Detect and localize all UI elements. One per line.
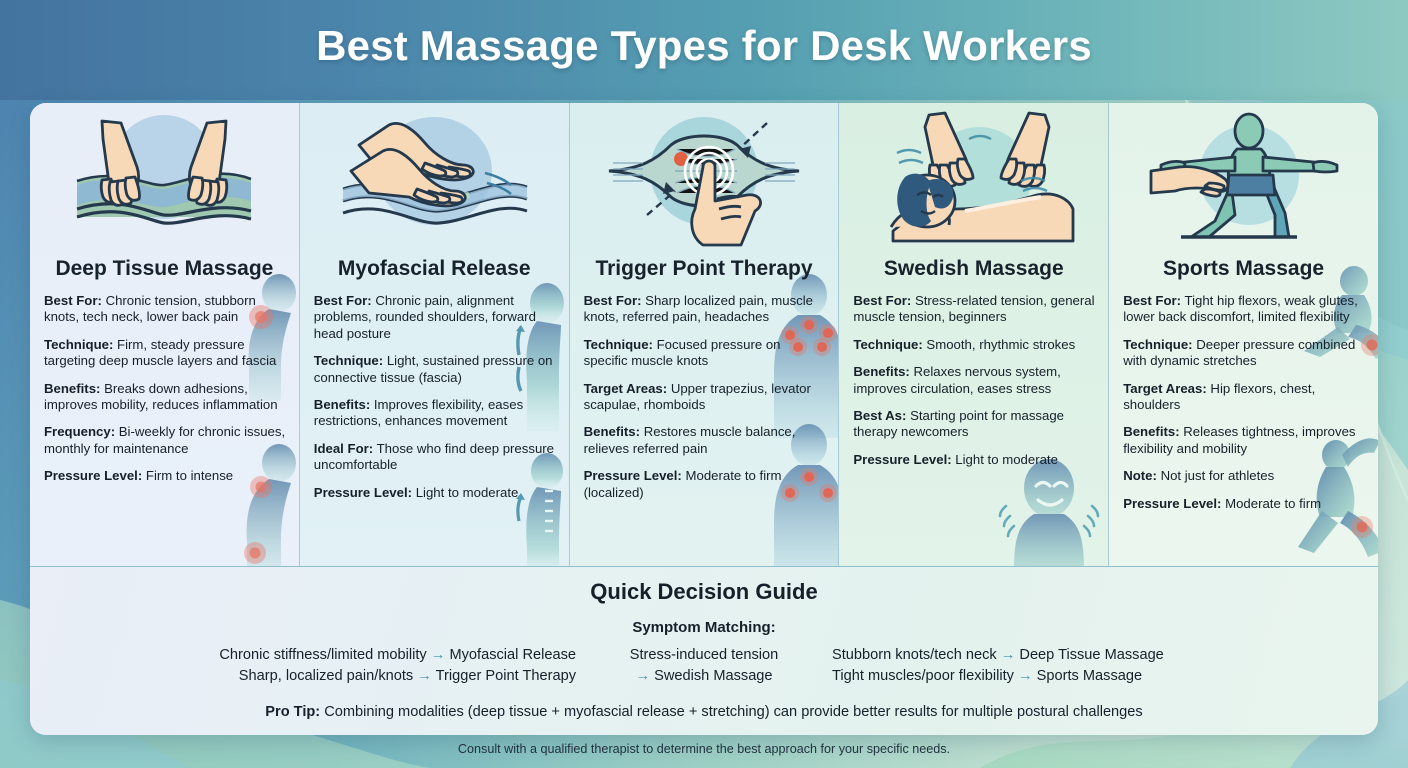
sports-icon-wrap — [1109, 103, 1378, 255]
match-column-right: Stubborn knots/tech neck → Deep Tissue M… — [832, 645, 1232, 687]
fact-label: Pressure Level: — [584, 468, 682, 483]
hands-pressing-tissue-icon — [59, 109, 269, 249]
fact-text: Light to moderate — [955, 452, 1058, 467]
fact-label: Pressure Level: — [314, 485, 412, 500]
match-column-left: Chronic stiffness/limited mobility → Myo… — [176, 645, 576, 687]
column-title: Swedish Massage — [839, 257, 1108, 281]
match-result: Swedish Massage — [654, 668, 772, 684]
column-body: Best For: Stress-related tension, genera… — [839, 293, 1108, 468]
guide-title: Quick Decision Guide — [30, 579, 1378, 605]
symptom-matching-title: Symptom Matching: — [30, 619, 1378, 636]
fact-label: Pressure Level: — [853, 452, 951, 467]
fact-label: Benefits: — [584, 424, 640, 439]
fact-item: Target Areas: Hip flexors, chest, should… — [1123, 381, 1366, 414]
deep-tissue-icon-wrap — [30, 103, 299, 255]
fact-label: Best For: — [44, 293, 102, 308]
fact-label: Ideal For: — [314, 441, 373, 456]
column-sports-massage[interactable]: Sports Massage — [1109, 103, 1378, 566]
fact-label: Best As: — [853, 408, 906, 423]
column-title: Deep Tissue Massage — [30, 257, 299, 281]
main-card: Deep Tissue Massage — [30, 103, 1378, 735]
column-body: Best For: Chronic tension, stubborn knot… — [30, 293, 299, 485]
fact-label: Best For: — [853, 293, 911, 308]
arrow-icon: → — [1018, 668, 1033, 684]
fact-label: Benefits: — [314, 397, 370, 412]
fact-text: Smooth, rhythmic strokes — [926, 337, 1075, 352]
footnote-disclaimer: Consult with a qualified therapist to de… — [0, 742, 1408, 756]
match-row: Stubborn knots/tech neck → Deep Tissue M… — [832, 645, 1232, 666]
fact-item: Benefits: Breaks down adhesions, improve… — [44, 381, 287, 414]
fact-label: Note: — [1123, 468, 1157, 483]
match-column-middle: Stress-induced tension → Swedish Massage — [604, 645, 804, 687]
fact-label: Technique: — [314, 353, 383, 368]
fact-label: Benefits: — [1123, 424, 1179, 439]
fact-item: Target Areas: Upper trapezius, levator s… — [584, 381, 827, 414]
fact-text: Light to moderate — [416, 485, 519, 500]
match-symptom: Stress-induced tension — [630, 647, 778, 663]
fact-item: Benefits: Improves flexibility, eases re… — [314, 397, 557, 430]
pro-tip: Pro Tip: Combining modalities (deep tiss… — [30, 704, 1378, 720]
fact-label: Technique: — [584, 337, 653, 352]
trigger-point-icon-wrap — [570, 103, 839, 255]
infographic-root: Best Massage Types for Desk Workers — [0, 0, 1408, 768]
fact-item: Best For: Chronic pain, alignment proble… — [314, 293, 557, 342]
quick-decision-guide: Quick Decision Guide Symptom Matching: C… — [30, 566, 1378, 735]
match-symptom: Tight muscles/poor flexibility — [832, 668, 1014, 684]
column-title: Trigger Point Therapy — [570, 257, 839, 281]
fact-text: Moderate to firm — [1225, 496, 1321, 511]
massage-type-columns: Deep Tissue Massage — [30, 103, 1378, 566]
arrow-icon: → — [1001, 647, 1016, 663]
fact-label: Best For: — [1123, 293, 1181, 308]
fact-item: Best For: Tight hip flexors, weak glutes… — [1123, 293, 1366, 326]
fact-label: Technique: — [44, 337, 113, 352]
fact-label: Frequency: — [44, 424, 115, 439]
column-body: Best For: Chronic pain, alignment proble… — [300, 293, 569, 501]
symptom-match-grid: Chronic stiffness/limited mobility → Myo… — [30, 645, 1378, 687]
match-row: Sharp, localized pain/knots → Trigger Po… — [176, 666, 576, 687]
arrow-icon: → — [635, 668, 650, 684]
assisted-stretch-warrior-pose-icon — [1139, 109, 1349, 249]
fact-item: Note: Not just for athletes — [1123, 468, 1366, 484]
fact-item: Pressure Level: Light to moderate — [853, 452, 1096, 468]
arrow-icon: → — [431, 647, 446, 663]
column-title: Sports Massage — [1109, 257, 1378, 281]
fact-item: Technique: Light, sustained pressure on … — [314, 353, 557, 386]
fact-item: Pressure Level: Moderate to firm (locali… — [584, 468, 827, 501]
fact-item: Best As: Starting point for massage ther… — [853, 408, 1096, 441]
column-myofascial-release[interactable]: Myofascial Release — [300, 103, 570, 566]
fact-label: Benefits: — [853, 364, 909, 379]
fact-item: Pressure Level: Moderate to firm — [1123, 496, 1366, 512]
fact-label: Target Areas: — [584, 381, 668, 396]
fact-label: Technique: — [853, 337, 922, 352]
fact-item: Technique: Deeper pressure combined with… — [1123, 337, 1366, 370]
match-result: Sports Massage — [1037, 668, 1142, 684]
fact-item: Benefits: Restores muscle balance, relie… — [584, 424, 827, 457]
column-body: Best For: Sharp localized pain, muscle k… — [570, 293, 839, 501]
match-symptom: Stubborn knots/tech neck — [832, 647, 997, 663]
fact-item: Technique: Focused pressure on specific … — [584, 337, 827, 370]
fact-item: Pressure Level: Light to moderate — [314, 485, 557, 501]
fact-item: Best For: Sharp localized pain, muscle k… — [584, 293, 827, 326]
fact-text: Firm to intense — [146, 468, 233, 483]
fact-label: Best For: — [314, 293, 372, 308]
column-swedish-massage[interactable]: Swedish Massage Best For: Stress-related… — [839, 103, 1109, 566]
match-result: Deep Tissue Massage — [1019, 647, 1163, 663]
arrow-icon: → — [417, 668, 432, 684]
finger-pressing-muscle-knot-icon — [599, 109, 809, 249]
relaxed-face-silhouette-icon — [996, 452, 1102, 566]
column-deep-tissue[interactable]: Deep Tissue Massage — [30, 103, 300, 566]
match-result: Trigger Point Therapy — [436, 668, 576, 684]
match-symptom: Sharp, localized pain/knots — [239, 668, 413, 684]
fact-item: Best For: Stress-related tension, genera… — [853, 293, 1096, 326]
match-row: Chronic stiffness/limited mobility → Myo… — [176, 645, 576, 666]
column-body: Best For: Tight hip flexors, weak glutes… — [1109, 293, 1378, 512]
person-lying-massage-icon — [869, 109, 1079, 249]
fact-item: Technique: Smooth, rhythmic strokes — [853, 337, 1096, 353]
myofascial-icon-wrap — [300, 103, 569, 255]
hands-gliding-fascia-icon — [329, 109, 539, 249]
fact-text: Not just for athletes — [1161, 468, 1275, 483]
fact-label: Target Areas: — [1123, 381, 1207, 396]
match-row: Stress-induced tension — [604, 645, 804, 666]
pro-tip-text: Combining modalities (deep tissue + myof… — [324, 704, 1142, 720]
match-symptom: Chronic stiffness/limited mobility — [219, 647, 426, 663]
fact-item: Benefits: Relaxes nervous system, improv… — [853, 364, 1096, 397]
fact-item: Ideal For: Those who find deep pressure … — [314, 441, 557, 474]
column-title: Myofascial Release — [300, 257, 569, 281]
fact-item: Frequency: Bi-weekly for chronic issues,… — [44, 424, 287, 457]
match-result: Myofascial Release — [449, 647, 576, 663]
fact-item: Pressure Level: Firm to intense — [44, 468, 287, 484]
fact-item: Technique: Firm, steady pressure targeti… — [44, 337, 287, 370]
match-row: Tight muscles/poor flexibility → Sports … — [832, 666, 1232, 687]
fact-item: Best For: Chronic tension, stubborn knot… — [44, 293, 287, 326]
fact-item: Benefits: Releases tightness, improves f… — [1123, 424, 1366, 457]
fact-label: Benefits: — [44, 381, 100, 396]
page-title: Best Massage Types for Desk Workers — [0, 22, 1408, 70]
fact-label: Pressure Level: — [1123, 496, 1221, 511]
fact-label: Technique: — [1123, 337, 1192, 352]
column-trigger-point-therapy[interactable]: Trigger Point Therapy — [570, 103, 840, 566]
fact-label: Best For: — [584, 293, 642, 308]
swedish-icon-wrap — [839, 103, 1108, 255]
match-row: → Swedish Massage — [604, 666, 804, 687]
fact-label: Pressure Level: — [44, 468, 142, 483]
pro-tip-label: Pro Tip: — [265, 704, 320, 720]
